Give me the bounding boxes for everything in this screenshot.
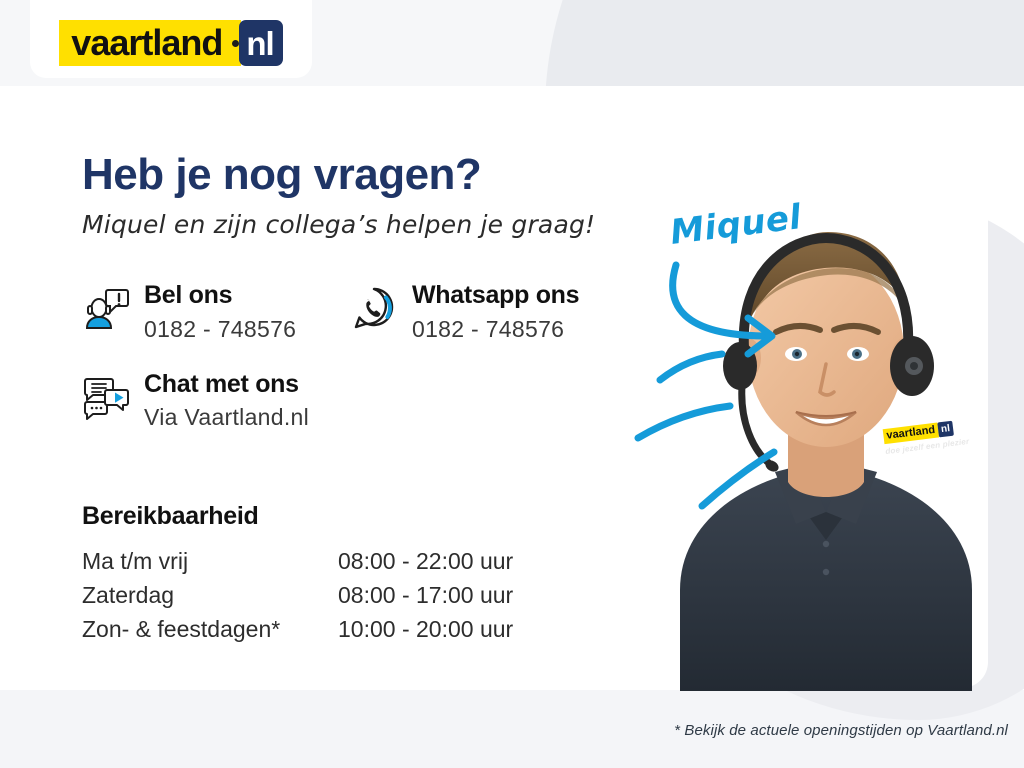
agent-photo-illustration [620, 120, 1024, 691]
hero-text-block: Heb je nog vragen? Miquel en zijn colleg… [82, 152, 642, 239]
opening-hours-row: Zon- & feestdagen* 10:00 - 20:00 uur [82, 613, 602, 647]
opening-hours: Bereikbaarheid Ma t/m vrij 08:00 - 22:00… [82, 502, 602, 646]
promo-banner: vaartland nl [0, 0, 1024, 768]
headset-person-icon [82, 284, 130, 332]
opening-hours-day: Zon- & feestdagen* [82, 613, 338, 647]
brand-logo-tld: nl [239, 20, 282, 66]
opening-hours-time: 08:00 - 22:00 uur [338, 545, 588, 579]
page-subtitle: Miquel en zijn collega’s helpen je graag… [82, 210, 642, 239]
opening-hours-row: Ma t/m vrij 08:00 - 22:00 uur [82, 545, 602, 579]
contact-option-whatsapp-text: Whatsapp ons 0182 - 748576 [412, 282, 579, 343]
contact-options: Bel ons 0182 - 748576 Whatsapp ons 0182 … [82, 282, 642, 431]
contact-option-chat[interactable]: Chat met ons Via Vaartland.nl [82, 371, 382, 432]
brand-logo-inner: vaartland nl [59, 20, 282, 66]
whatsapp-icon [350, 284, 398, 332]
contact-whatsapp-detail: 0182 - 748576 [412, 316, 579, 343]
contact-whatsapp-title: Whatsapp ons [412, 281, 579, 309]
opening-hours-day: Zaterdag [82, 579, 338, 613]
contact-call-title: Bel ons [144, 281, 232, 309]
contact-chat-detail: Via Vaartland.nl [144, 404, 309, 431]
chat-bubbles-icon [82, 373, 130, 421]
contact-call-detail: 0182 - 748576 [144, 316, 296, 343]
contact-option-chat-text: Chat met ons Via Vaartland.nl [144, 371, 309, 432]
opening-hours-time: 10:00 - 20:00 uur [338, 613, 588, 647]
polo-logo-tld: nl [937, 421, 954, 438]
opening-hours-row: Zaterdag 08:00 - 17:00 uur [82, 579, 602, 613]
contact-option-call-text: Bel ons 0182 - 748576 [144, 282, 296, 343]
contact-option-call[interactable]: Bel ons 0182 - 748576 [82, 282, 350, 343]
page-title: Heb je nog vragen? [82, 152, 642, 198]
contact-option-whatsapp[interactable]: Whatsapp ons 0182 - 748576 [350, 282, 630, 343]
contact-chat-title: Chat met ons [144, 370, 299, 398]
opening-hours-title: Bereikbaarheid [82, 502, 602, 531]
opening-hours-day: Ma t/m vrij [82, 545, 338, 579]
footnote: * Bekijk de actuele openingstijden op Va… [0, 722, 1008, 739]
opening-hours-time: 08:00 - 17:00 uur [338, 579, 588, 613]
agent-photo [620, 120, 1024, 691]
brand-logo-word: vaartland [59, 20, 232, 66]
brand-logo[interactable]: vaartland nl [30, 0, 312, 78]
contact-row-primary: Bel ons 0182 - 748576 Whatsapp ons 0182 … [82, 282, 642, 343]
